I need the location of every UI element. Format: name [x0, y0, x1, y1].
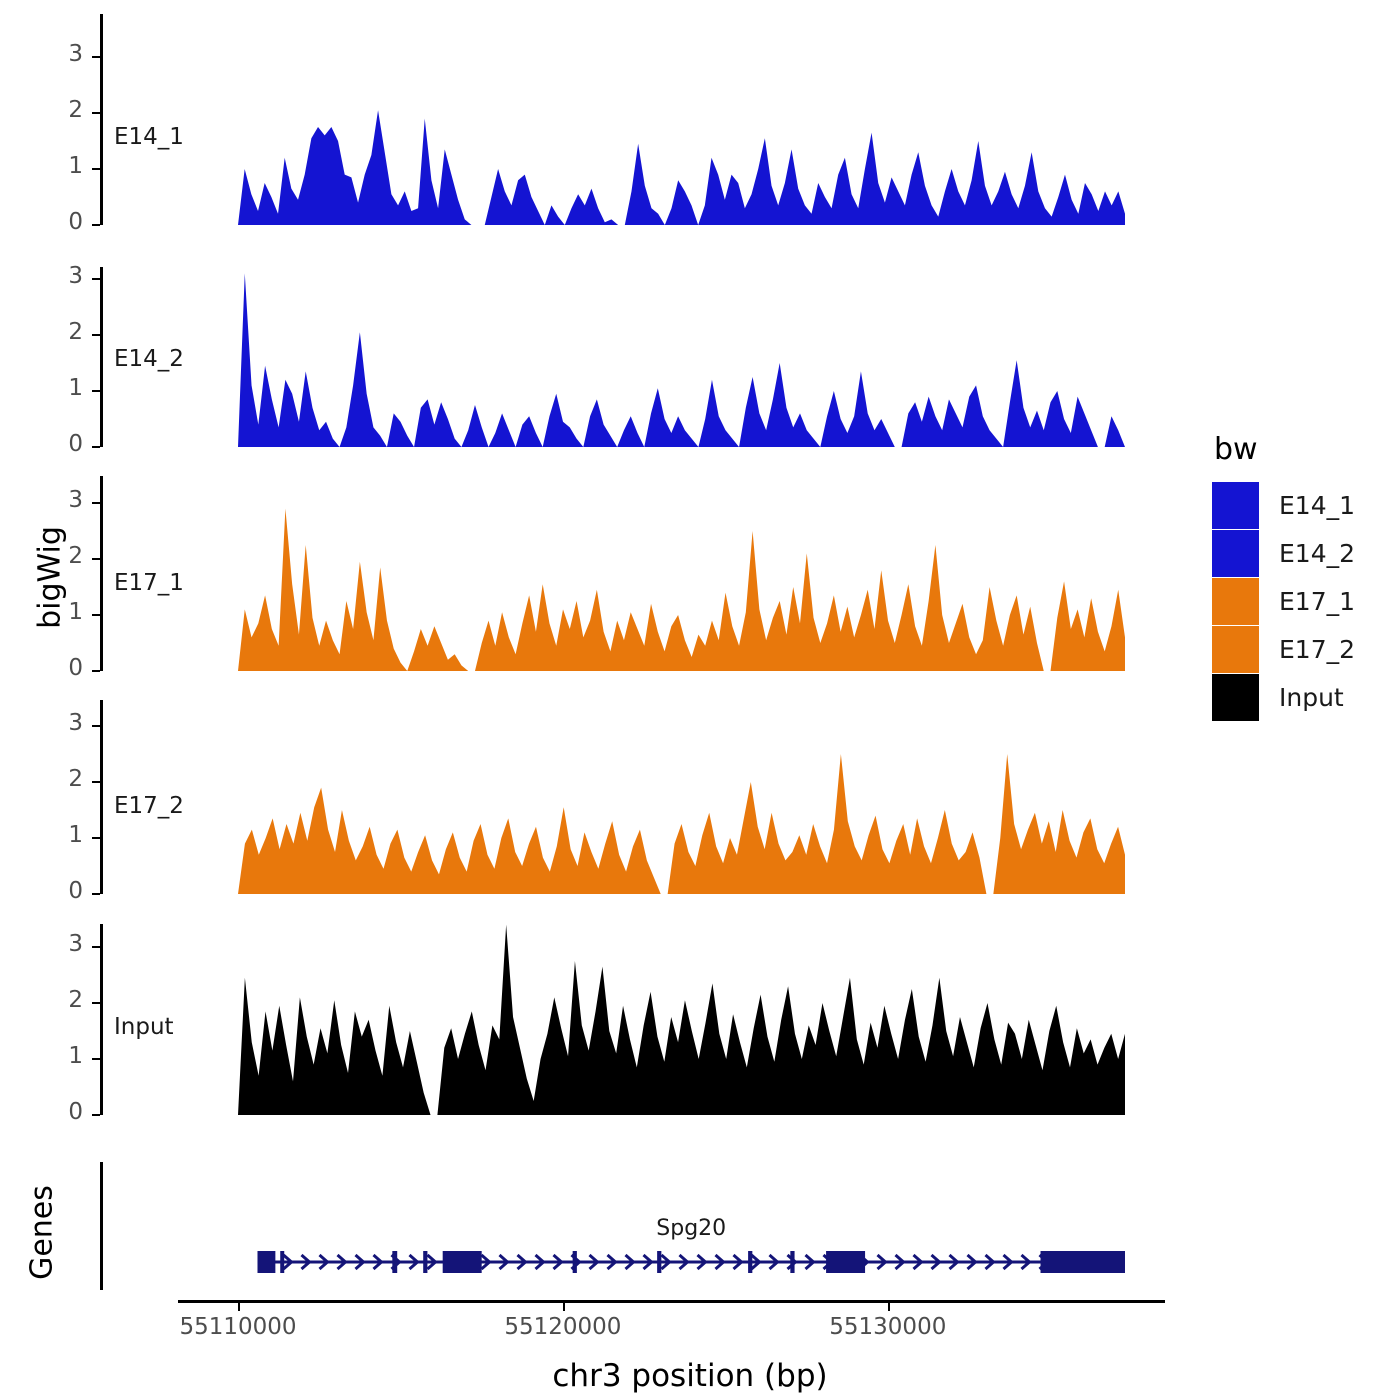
y-axis-tick-label: 2 [5, 987, 83, 1013]
signal-track-e14_1 [238, 14, 1125, 229]
y-axis-tick-label: 0 [5, 655, 83, 681]
y-axis-tick-label: 0 [5, 1099, 83, 1125]
y-axis-tick-label: 0 [5, 431, 83, 457]
y-axis-tick-label: 1 [5, 822, 83, 848]
legend-item-e17_1[interactable]: E17_1 [1212, 577, 1355, 625]
legend-item-e14_1[interactable]: E14_1 [1212, 481, 1355, 529]
y-axis-tick-label: 0 [5, 209, 83, 235]
legend-item-e14_2[interactable]: E14_2 [1212, 529, 1355, 577]
signal-track-e17_2 [238, 700, 1125, 898]
y-axis-tick [92, 670, 100, 672]
y-axis-tick [92, 614, 100, 616]
x-axis-tick-label: 55110000 [128, 1314, 348, 1340]
legend-item-label: E14_2 [1279, 539, 1355, 568]
legend-color-swatch [1212, 482, 1259, 529]
y-axis-tick-label: 1 [5, 599, 83, 625]
legend-color-swatch [1212, 674, 1259, 721]
y-axis-tick [92, 446, 100, 448]
legend-color-swatch [1212, 578, 1259, 625]
y-axis-tick [92, 946, 100, 948]
y-axis-tick [92, 56, 100, 58]
track-y-axis-line [100, 924, 103, 1115]
y-axis-tick-label: 2 [5, 543, 83, 569]
y-axis-title: bigWig [33, 488, 68, 668]
genes-axis-title: Genes [25, 1143, 60, 1323]
signal-track-e17_1 [238, 476, 1125, 675]
legend-color-swatch [1212, 530, 1259, 577]
y-axis-tick [92, 558, 100, 560]
y-axis-tick-label: 1 [5, 153, 83, 179]
legend-item-label: E17_2 [1279, 635, 1355, 664]
legend-item-label: Input [1279, 683, 1344, 712]
y-axis-tick [92, 278, 100, 280]
track-label-input: Input [114, 1014, 174, 1040]
x-axis-tick-label: 55120000 [453, 1314, 673, 1340]
legend-item-list: E14_1E14_2E17_1E17_2Input [1212, 481, 1355, 721]
y-axis-tick [92, 725, 100, 727]
legend-title: bw [1214, 432, 1355, 467]
y-axis-tick-label: 2 [5, 97, 83, 123]
y-axis-tick-label: 3 [5, 931, 83, 957]
legend-item-label: E17_1 [1279, 587, 1355, 616]
y-axis-tick [92, 334, 100, 336]
legend-item-input[interactable]: Input [1212, 673, 1355, 721]
x-axis-tick [238, 1303, 240, 1311]
legend-color-swatch [1212, 626, 1259, 673]
y-axis-tick [92, 168, 100, 170]
y-axis-tick-label: 3 [5, 41, 83, 67]
y-axis-tick-label: 3 [5, 263, 83, 289]
y-axis-tick [92, 1058, 100, 1060]
genome-browser-figure: bigWig Genes chr3 position (bp) bw E14_1… [0, 0, 1400, 1400]
y-axis-tick [92, 502, 100, 504]
y-axis-tick [92, 781, 100, 783]
x-axis-tick-label: 55130000 [778, 1314, 998, 1340]
track-label-e17_1: E17_1 [114, 570, 184, 596]
track-y-axis-line [100, 476, 103, 671]
y-axis-tick-label: 0 [5, 878, 83, 904]
legend-item-e17_2[interactable]: E17_2 [1212, 625, 1355, 673]
y-axis-tick-label: 1 [5, 375, 83, 401]
y-axis-tick-label: 1 [5, 1043, 83, 1069]
legend: bw E14_1E14_2E17_1E17_2Input [1212, 432, 1355, 721]
track-y-axis-line [100, 14, 103, 225]
y-axis-tick-label: 3 [5, 710, 83, 736]
y-axis-tick-label: 2 [5, 319, 83, 345]
y-axis-tick [92, 893, 100, 895]
y-axis-tick-label: 2 [5, 766, 83, 792]
signal-track-e14_2 [238, 267, 1125, 451]
y-axis-tick [92, 112, 100, 114]
y-axis-tick [92, 1002, 100, 1004]
y-axis-tick [92, 837, 100, 839]
y-axis-tick [92, 1114, 100, 1116]
legend-item-label: E14_1 [1279, 491, 1355, 520]
track-y-axis-line [100, 700, 103, 894]
signal-track-input [238, 924, 1125, 1119]
x-axis-line [178, 1300, 1165, 1303]
y-axis-tick [92, 390, 100, 392]
y-axis-tick [92, 224, 100, 226]
track-label-e14_2: E14_2 [114, 346, 184, 372]
gene-model-spg20[interactable] [0, 1242, 1400, 1282]
x-axis-tick [888, 1303, 890, 1311]
x-axis-title: chr3 position (bp) [240, 1358, 1140, 1394]
track-y-axis-line [100, 267, 103, 447]
track-label-e17_2: E17_2 [114, 793, 184, 819]
track-label-e14_1: E14_1 [114, 124, 184, 150]
x-axis-tick [563, 1303, 565, 1311]
gene-name-label: Spg20 [571, 1216, 811, 1241]
y-axis-tick-label: 3 [5, 487, 83, 513]
